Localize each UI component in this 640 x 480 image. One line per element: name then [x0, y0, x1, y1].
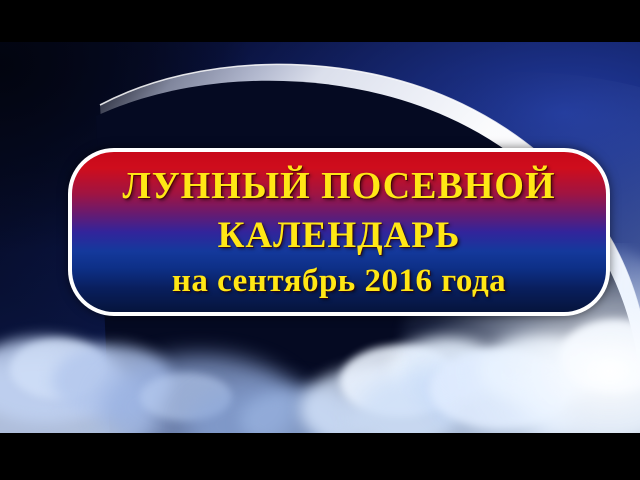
title-banner-body: ЛУННЫЙ ПОСЕВНОЙ КАЛЕНДАРЬ на сентябрь 20… [72, 152, 606, 312]
video-thumbnail: ЛУННЫЙ ПОСЕВНОЙ КАЛЕНДАРЬ на сентябрь 20… [0, 0, 640, 480]
banner-title-line-1: ЛУННЫЙ ПОСЕВНОЙ [122, 167, 555, 205]
banner-title-line-2: КАЛЕНДАРЬ [218, 217, 461, 254]
title-banner: ЛУННЫЙ ПОСЕВНОЙ КАЛЕНДАРЬ на сентябрь 20… [68, 148, 610, 316]
banner-subtitle-line-3: на сентябрь 2016 года [172, 265, 506, 298]
letterbox-top [0, 0, 640, 42]
letterbox-bottom [0, 433, 640, 480]
